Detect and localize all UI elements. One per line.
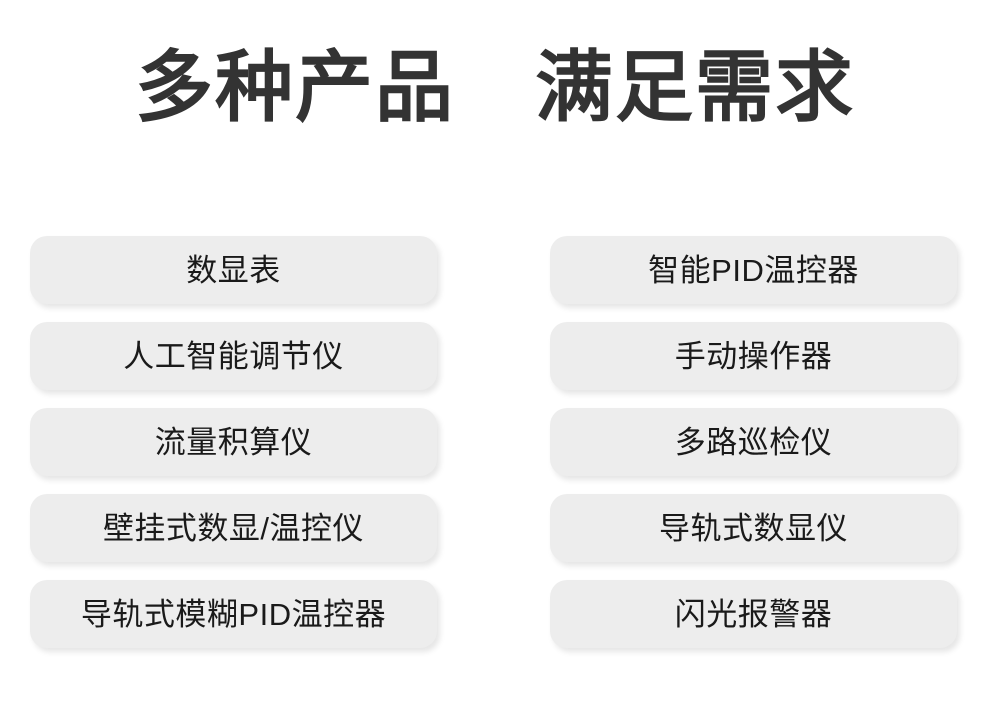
product-overview-page: 多种产品 满足需求 数显表 人工智能调节仪 流量积算仪 壁挂式数显/温控仪 导轨… <box>0 0 990 716</box>
product-pill-label: 数显表 <box>186 255 281 286</box>
product-pill[interactable]: 人工智能调节仪 <box>30 322 437 390</box>
product-category-grid: 数显表 人工智能调节仪 流量积算仪 壁挂式数显/温控仪 导轨式模糊PID温控器 … <box>30 236 957 648</box>
product-pill[interactable]: 多路巡检仪 <box>550 408 957 476</box>
product-pill[interactable]: 壁挂式数显/温控仪 <box>30 494 437 562</box>
product-pill-label: 壁挂式数显/温控仪 <box>103 513 364 544</box>
product-column-right: 智能PID温控器 手动操作器 多路巡检仪 导轨式数显仪 闪光报警器 <box>550 236 957 648</box>
product-pill[interactable]: 导轨式数显仪 <box>550 494 957 562</box>
page-title: 多种产品 满足需求 <box>0 44 990 131</box>
product-pill-label: 导轨式模糊PID温控器 <box>81 599 386 630</box>
product-pill-label: 手动操作器 <box>675 341 833 372</box>
product-pill-label: 智能PID温控器 <box>648 255 859 286</box>
product-pill-label: 多路巡检仪 <box>675 427 833 458</box>
product-pill[interactable]: 流量积算仪 <box>30 408 437 476</box>
product-pill[interactable]: 闪光报警器 <box>550 580 957 648</box>
product-pill[interactable]: 数显表 <box>30 236 437 304</box>
product-pill-label: 导轨式数显仪 <box>659 513 848 544</box>
product-pill[interactable]: 智能PID温控器 <box>550 236 957 304</box>
product-pill[interactable]: 导轨式模糊PID温控器 <box>30 580 437 648</box>
product-pill-label: 流量积算仪 <box>155 427 313 458</box>
product-pill-label: 人工智能调节仪 <box>123 341 344 372</box>
product-pill-label: 闪光报警器 <box>675 599 833 630</box>
product-column-left: 数显表 人工智能调节仪 流量积算仪 壁挂式数显/温控仪 导轨式模糊PID温控器 <box>30 236 437 648</box>
product-pill[interactable]: 手动操作器 <box>550 322 957 390</box>
